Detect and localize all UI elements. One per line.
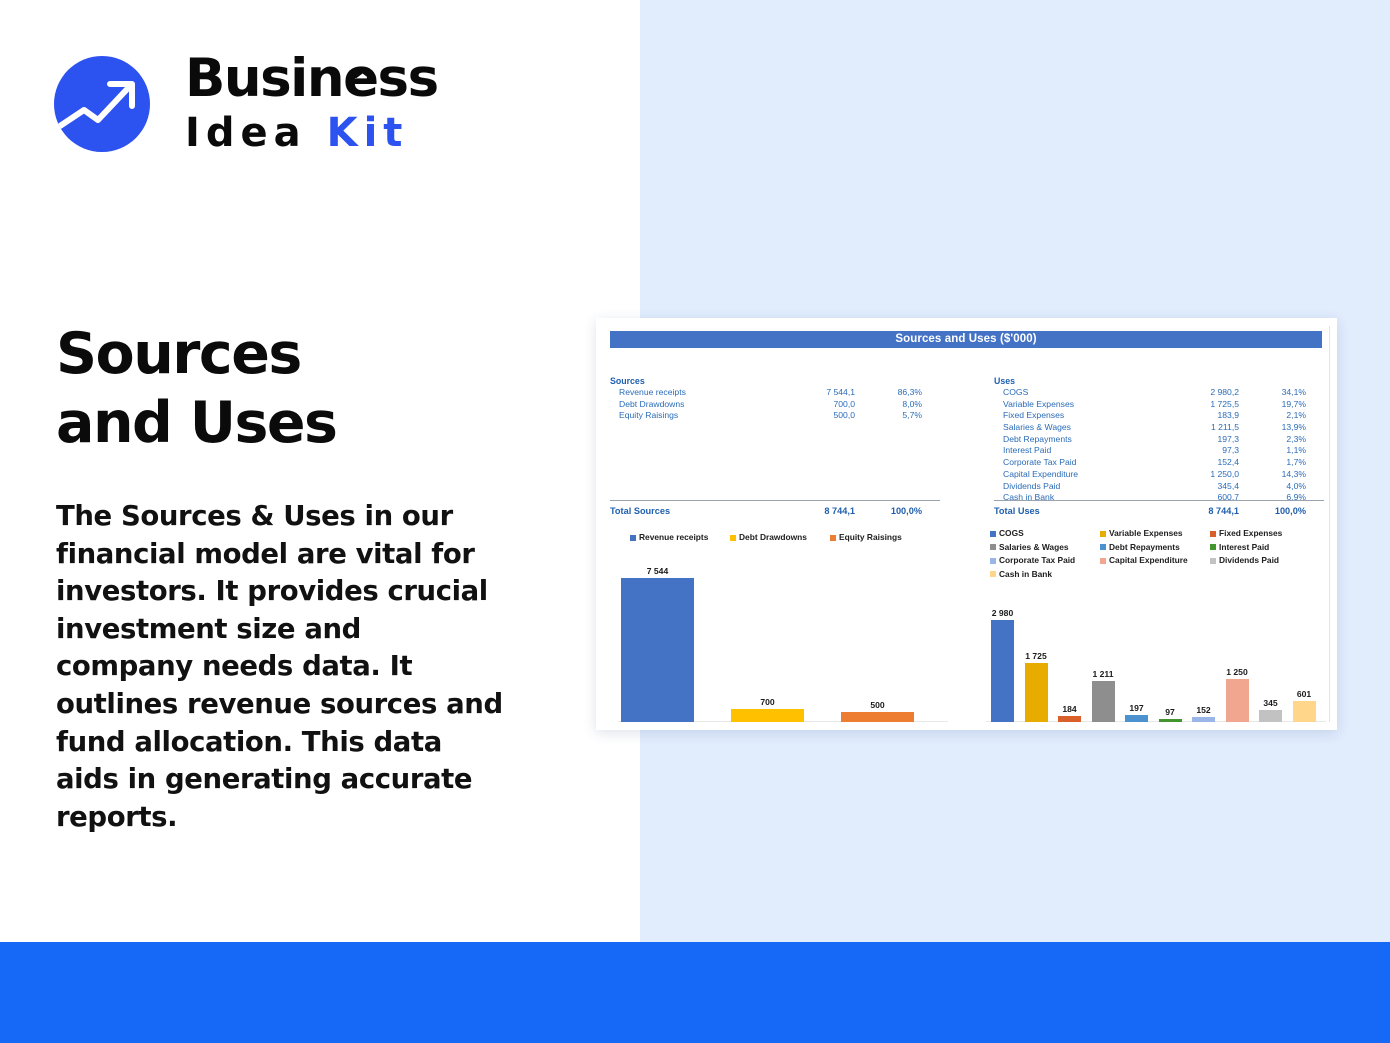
- legend-label: Dividends Paid: [1219, 555, 1279, 565]
- brand-name-line2: Idea Kit: [185, 110, 438, 156]
- legend-item: Revenue receipts: [630, 532, 708, 542]
- brand-circumflex-accent: ^: [350, 52, 374, 114]
- legend-item: Debt Drawdowns: [730, 532, 807, 542]
- row-value: 152,4: [1144, 457, 1239, 469]
- slide-canvas: Business ^ Idea Kit Sources and Uses The…: [0, 0, 1390, 1043]
- legend-item: Corporate Tax Paid: [990, 555, 1075, 565]
- legend-swatch: [630, 535, 636, 541]
- sources-chart-legend: Revenue receiptsDebt DrawdownsEquity Rai…: [630, 532, 930, 546]
- table-row: Equity Raisings 500,0 5,7%: [610, 410, 940, 422]
- uses-chart-legend: COGSVariable ExpensesFixed ExpensesSalar…: [990, 528, 1320, 568]
- table-row: Variable Expenses 1 725,5 19,7%: [994, 399, 1324, 411]
- row-value: 500,0: [760, 410, 855, 422]
- row-label: Revenue receipts: [619, 387, 686, 399]
- chart-bar[interactable]: [1159, 719, 1182, 722]
- chart-bar[interactable]: [1125, 715, 1148, 722]
- total-label: Total Uses: [994, 504, 1040, 518]
- table-row: Salaries & Wages 1 211,5 13,9%: [994, 422, 1324, 434]
- row-percent: 19,7%: [1244, 399, 1306, 411]
- chart-bar-label: 7 544: [609, 566, 706, 576]
- row-label: Interest Paid: [1003, 445, 1051, 457]
- total-value: 8 744,1: [1144, 504, 1239, 518]
- legend-item: Variable Expenses: [1100, 528, 1183, 538]
- table-row: COGS 2 980,2 34,1%: [994, 387, 1324, 399]
- row-value: 600,7: [1144, 492, 1239, 504]
- row-percent: 6,9%: [1244, 492, 1306, 504]
- chart-bar-label: 601: [1281, 689, 1328, 699]
- legend-label: Corporate Tax Paid: [999, 555, 1075, 565]
- chart-bar[interactable]: [1259, 710, 1282, 722]
- table-row: Debt Repayments 197,3 2,3%: [994, 434, 1324, 446]
- legend-label: COGS: [999, 528, 1024, 538]
- legend-item: Capital Expenditure: [1100, 555, 1188, 565]
- row-value: 183,9: [1144, 410, 1239, 422]
- brand-name-line2-dark: Idea: [185, 110, 307, 156]
- row-value: 97,3: [1144, 445, 1239, 457]
- chart-bar[interactable]: [621, 578, 694, 722]
- row-label: Cash in Bank: [1003, 492, 1054, 504]
- legend-label: Debt Repayments: [1109, 542, 1180, 552]
- sheet-title-bar: Sources and Uses ($'000): [610, 331, 1322, 348]
- brand-name-line1: Business ^: [185, 48, 438, 110]
- row-value: 7 544,1: [760, 387, 855, 399]
- chart-bar-label: 1 211: [1080, 669, 1127, 679]
- growth-arrow-circle-icon: [54, 56, 150, 152]
- legend-label: Capital Expenditure: [1109, 555, 1188, 565]
- legend-swatch: [1210, 544, 1216, 550]
- row-label: Fixed Expenses: [1003, 410, 1064, 422]
- chart-bar-label: 700: [719, 697, 816, 707]
- brand-name-line1-text: Business: [185, 48, 438, 109]
- sources-bar-chart[interactable]: 7 544700500: [618, 572, 948, 722]
- row-label: COGS: [1003, 387, 1028, 399]
- row-label: Debt Drawdowns: [619, 399, 684, 411]
- uses-table: Uses COGS 2 980,2 34,1% Variable Expense…: [994, 375, 1324, 504]
- legend-label: Salaries & Wages: [999, 542, 1069, 552]
- chart-bar[interactable]: [1226, 679, 1249, 722]
- bottom-accent-bar: [0, 942, 1390, 1043]
- row-value: 345,4: [1144, 481, 1239, 493]
- table-row: Fixed Expenses 183,9 2,1%: [994, 410, 1324, 422]
- legend-label: Variable Expenses: [1109, 528, 1183, 538]
- row-percent: 2,1%: [1244, 410, 1306, 422]
- legend-label: Fixed Expenses: [1219, 528, 1282, 538]
- chart-bar[interactable]: [1025, 663, 1048, 722]
- chart-bar-label: 184: [1046, 704, 1093, 714]
- legend-item: Debt Repayments: [1100, 542, 1180, 552]
- row-percent: 34,1%: [1244, 387, 1306, 399]
- row-value: 197,3: [1144, 434, 1239, 446]
- chart-bar[interactable]: [1293, 701, 1316, 722]
- legend-item: Dividends Paid: [1210, 555, 1279, 565]
- table-row: Capital Expenditure 1 250,0 14,3%: [994, 469, 1324, 481]
- row-percent: 4,0%: [1244, 481, 1306, 493]
- total-percent: 100,0%: [1244, 504, 1306, 518]
- row-percent: 14,3%: [1244, 469, 1306, 481]
- panel-column-divider: [1329, 326, 1330, 722]
- chart-bar-label: 1 725: [1013, 651, 1060, 661]
- total-label: Total Sources: [610, 504, 670, 518]
- chart-bar[interactable]: [1092, 681, 1115, 722]
- legend-item: Interest Paid: [1210, 542, 1269, 552]
- row-value: 1 211,5: [1144, 422, 1239, 434]
- chart-bar-label: 1 250: [1214, 667, 1261, 677]
- uses-table-header: Uses: [994, 375, 1324, 387]
- chart-bar[interactable]: [1058, 716, 1081, 722]
- chart-bar[interactable]: [841, 712, 914, 722]
- row-label: Salaries & Wages: [1003, 422, 1071, 434]
- row-percent: 2,3%: [1244, 434, 1306, 446]
- chart-bar[interactable]: [1192, 717, 1215, 722]
- row-label: Corporate Tax Paid: [1003, 457, 1076, 469]
- legend-swatch: [830, 535, 836, 541]
- chart-bar[interactable]: [731, 709, 804, 722]
- row-label: Dividends Paid: [1003, 481, 1060, 493]
- sources-table-header: Sources: [610, 375, 940, 387]
- legend-swatch: [990, 558, 996, 564]
- row-value: 1 250,0: [1144, 469, 1239, 481]
- legend-label: Debt Drawdowns: [739, 532, 807, 542]
- sources-total-rule: [610, 500, 940, 501]
- sources-table: Sources Revenue receipts 7 544,1 86,3% D…: [610, 375, 940, 422]
- uses-bar-chart[interactable]: 2 9801 7251841 211197971521 250345601: [986, 572, 1326, 722]
- legend-item: Salaries & Wages: [990, 542, 1069, 552]
- row-label: Capital Expenditure: [1003, 469, 1078, 481]
- uses-total-rule: [994, 500, 1324, 501]
- chart-bar-label: 2 980: [979, 608, 1026, 618]
- legend-swatch: [1100, 558, 1106, 564]
- financial-model-panel[interactable]: Sources and Uses ($'000) First 24 months…: [596, 318, 1337, 730]
- total-percent: 100,0%: [860, 504, 922, 518]
- uses-total-row: Total Uses 8 744,1 100,0%: [994, 504, 1324, 518]
- brand-wordmark: Business ^ Idea Kit: [185, 48, 438, 156]
- legend-swatch: [990, 531, 996, 537]
- row-percent: 5,7%: [860, 410, 922, 422]
- chart-bar[interactable]: [991, 620, 1014, 722]
- legend-item: COGS: [990, 528, 1024, 538]
- legend-label: Revenue receipts: [639, 532, 708, 542]
- page-title: Sources and Uses: [56, 320, 576, 458]
- legend-label: Equity Raisings: [839, 532, 902, 542]
- legend-swatch: [1100, 544, 1106, 550]
- table-row: Revenue receipts 7 544,1 86,3%: [610, 387, 940, 399]
- brand-name-line2-accent: Kit: [327, 110, 409, 156]
- row-percent: 86,3%: [860, 387, 922, 399]
- row-label: Equity Raisings: [619, 410, 678, 422]
- table-row: Debt Drawdowns 700,0 8,0%: [610, 399, 940, 411]
- sources-total-row: Total Sources 8 744,1 100,0%: [610, 504, 940, 518]
- row-percent: 13,9%: [1244, 422, 1306, 434]
- chart-bar-label: 345: [1247, 698, 1294, 708]
- row-value: 1 725,5: [1144, 399, 1239, 411]
- row-label: Debt Repayments: [1003, 434, 1072, 446]
- legend-swatch: [1100, 531, 1106, 537]
- row-percent: 1,1%: [1244, 445, 1306, 457]
- legend-swatch: [1210, 531, 1216, 537]
- table-row: Dividends Paid 345,4 4,0%: [994, 481, 1324, 493]
- row-label: Variable Expenses: [1003, 399, 1074, 411]
- table-row: Corporate Tax Paid 152,4 1,7%: [994, 457, 1324, 469]
- page-description: The Sources & Uses in our financial mode…: [56, 498, 506, 836]
- chart-bar-label: 500: [829, 700, 926, 710]
- legend-swatch: [1210, 558, 1216, 564]
- row-value: 700,0: [760, 399, 855, 411]
- legend-swatch: [990, 544, 996, 550]
- legend-item: Fixed Expenses: [1210, 528, 1282, 538]
- row-value: 2 980,2: [1144, 387, 1239, 399]
- chart-bar-label: 152: [1180, 705, 1227, 715]
- table-row: Interest Paid 97,3 1,1%: [994, 445, 1324, 457]
- legend-swatch: [730, 535, 736, 541]
- legend-label: Interest Paid: [1219, 542, 1269, 552]
- row-percent: 8,0%: [860, 399, 922, 411]
- total-value: 8 744,1: [760, 504, 855, 518]
- table-row: Cash in Bank 600,7 6,9%: [994, 492, 1324, 504]
- row-percent: 1,7%: [1244, 457, 1306, 469]
- legend-item: Equity Raisings: [830, 532, 902, 542]
